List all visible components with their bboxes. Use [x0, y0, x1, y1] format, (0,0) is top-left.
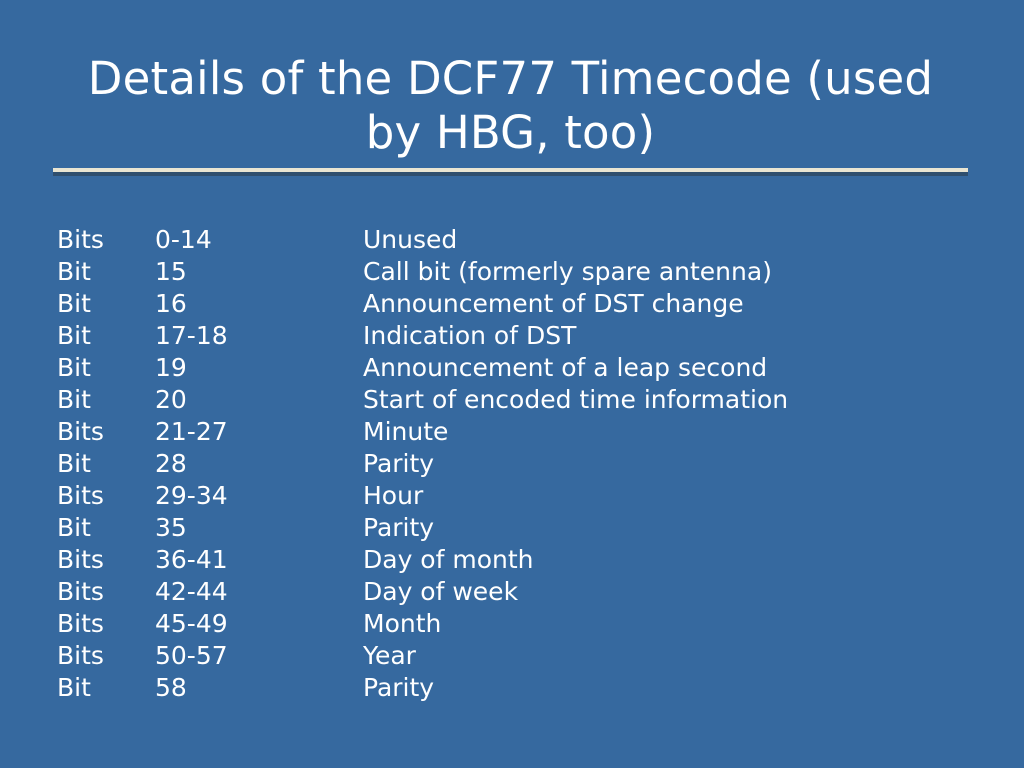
table-row: Bit35Parity: [57, 512, 987, 544]
table-row: Bits21-27Minute: [57, 416, 987, 448]
cell-unit: Bits: [57, 416, 155, 448]
table-row: Bits45-49Month: [57, 608, 987, 640]
cell-unit: Bits: [57, 608, 155, 640]
cell-unit: Bits: [57, 640, 155, 672]
cell-bits: 36-41: [155, 544, 363, 576]
cell-description: Day of month: [363, 544, 987, 576]
title-divider: [53, 168, 968, 172]
bit-allocation-table: Bits0-14UnusedBit15Call bit (formerly sp…: [57, 224, 987, 704]
cell-unit: Bit: [57, 512, 155, 544]
cell-unit: Bits: [57, 480, 155, 512]
table-row: Bit15Call bit (formerly spare antenna): [57, 256, 987, 288]
slide-canvas: Details of the DCF77 Timecode (used by H…: [0, 0, 1024, 768]
cell-description: Call bit (formerly spare antenna): [363, 256, 987, 288]
cell-bits: 50-57: [155, 640, 363, 672]
cell-description: Year: [363, 640, 987, 672]
cell-bits: 20: [155, 384, 363, 416]
cell-bits: 29-34: [155, 480, 363, 512]
cell-description: Minute: [363, 416, 987, 448]
cell-unit: Bit: [57, 352, 155, 384]
cell-bits: 16: [155, 288, 363, 320]
title-block: Details of the DCF77 Timecode (used by H…: [53, 52, 968, 160]
cell-bits: 35: [155, 512, 363, 544]
table-row: Bit17-18Indication of DST: [57, 320, 987, 352]
cell-unit: Bit: [57, 448, 155, 480]
cell-description: Announcement of DST change: [363, 288, 987, 320]
table-row: Bit19Announcement of a leap second: [57, 352, 987, 384]
table-row: Bits29-34Hour: [57, 480, 987, 512]
cell-description: Day of week: [363, 576, 987, 608]
cell-unit: Bit: [57, 672, 155, 704]
cell-bits: 45-49: [155, 608, 363, 640]
cell-bits: 42-44: [155, 576, 363, 608]
cell-description: Month: [363, 608, 987, 640]
table-row: Bits36-41Day of month: [57, 544, 987, 576]
cell-description: Hour: [363, 480, 987, 512]
cell-unit: Bits: [57, 576, 155, 608]
cell-unit: Bit: [57, 320, 155, 352]
cell-description: Parity: [363, 672, 987, 704]
cell-description: Announcement of a leap second: [363, 352, 987, 384]
table-row: Bits50-57Year: [57, 640, 987, 672]
cell-description: Parity: [363, 448, 987, 480]
cell-bits: 15: [155, 256, 363, 288]
cell-description: Start of encoded time information: [363, 384, 987, 416]
page-title: Details of the DCF77 Timecode (used by H…: [53, 52, 968, 160]
cell-unit: Bit: [57, 256, 155, 288]
table-row: Bits42-44Day of week: [57, 576, 987, 608]
cell-description: Indication of DST: [363, 320, 987, 352]
cell-bits: 58: [155, 672, 363, 704]
cell-unit: Bits: [57, 224, 155, 256]
cell-bits: 19: [155, 352, 363, 384]
bit-allocation-table-body: Bits0-14UnusedBit15Call bit (formerly sp…: [57, 224, 987, 704]
cell-unit: Bit: [57, 288, 155, 320]
cell-description: Parity: [363, 512, 987, 544]
table-row: Bit16Announcement of DST change: [57, 288, 987, 320]
cell-unit: Bits: [57, 544, 155, 576]
cell-bits: 28: [155, 448, 363, 480]
table-row: Bits0-14Unused: [57, 224, 987, 256]
table-row: Bit28Parity: [57, 448, 987, 480]
cell-unit: Bit: [57, 384, 155, 416]
cell-bits: 21-27: [155, 416, 363, 448]
table-row: Bit58Parity: [57, 672, 987, 704]
cell-bits: 17-18: [155, 320, 363, 352]
cell-description: Unused: [363, 224, 987, 256]
cell-bits: 0-14: [155, 224, 363, 256]
table-row: Bit20Start of encoded time information: [57, 384, 987, 416]
